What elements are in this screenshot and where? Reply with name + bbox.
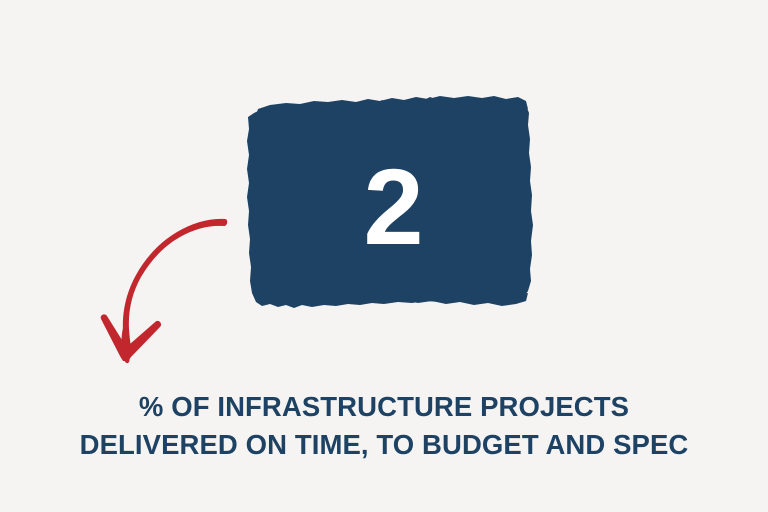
infographic-canvas: 2 % OF INFRASTRUCTURE PROJECTS DELIVERED… xyxy=(0,0,768,512)
caption-block: % OF INFRASTRUCTURE PROJECTS DELIVERED O… xyxy=(0,388,768,464)
curved-down-arrow xyxy=(90,200,250,375)
curved-down-arrow-icon xyxy=(90,200,250,375)
caption-line-2: DELIVERED ON TIME, TO BUDGET AND SPEC xyxy=(0,426,768,464)
caption-line-1: % OF INFRASTRUCTURE PROJECTS xyxy=(0,388,768,426)
stat-number: 2 xyxy=(240,95,540,315)
stat-badge: 2 xyxy=(240,95,540,315)
